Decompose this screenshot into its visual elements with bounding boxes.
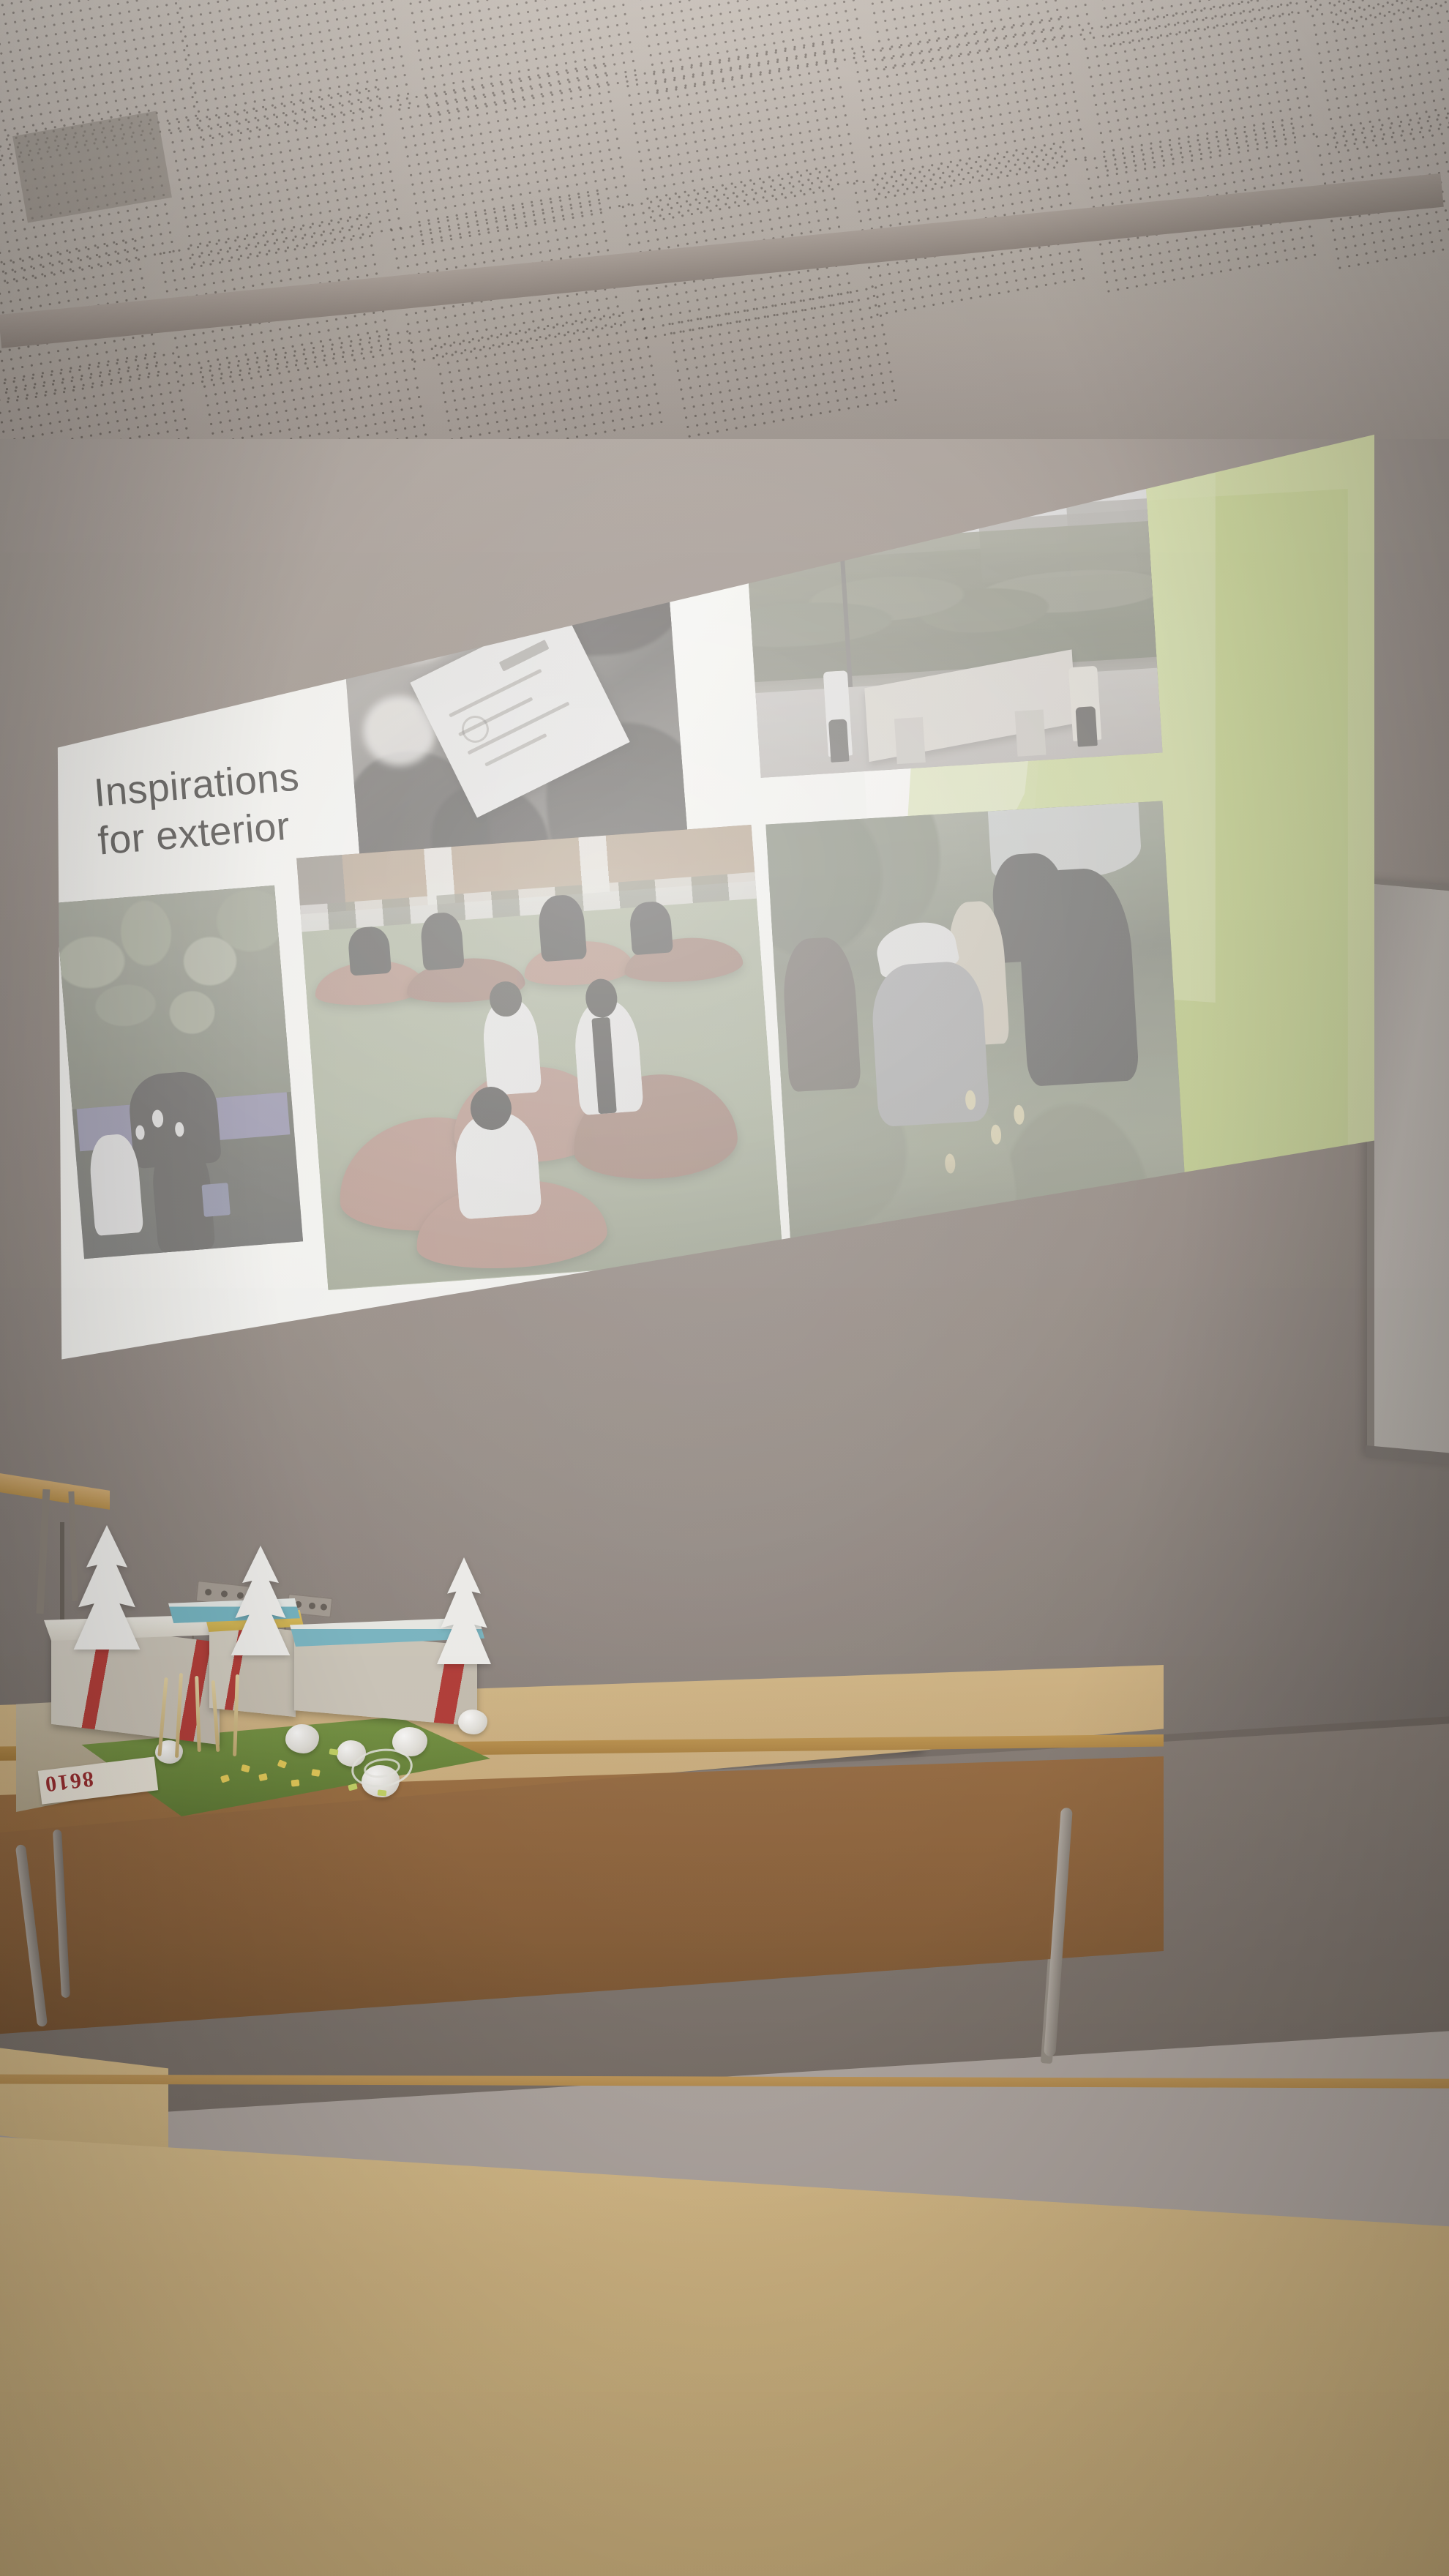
slide-photo-workshop bbox=[337, 543, 689, 881]
photo-student-white-jacket bbox=[572, 998, 644, 1115]
photo-person-left bbox=[823, 670, 853, 757]
whiteboard[interactable] bbox=[1367, 878, 1449, 1464]
slide-photo-gardening bbox=[765, 801, 1188, 1270]
model-package-label-text: 8610 bbox=[42, 1766, 95, 1797]
photo-white-cap bbox=[872, 916, 960, 979]
desk-front[interactable] bbox=[0, 2071, 1449, 2576]
model-bush-6 bbox=[458, 1710, 487, 1734]
classroom-photo-scene: Inspirations for exterior bbox=[0, 0, 1449, 2576]
photo-student-back bbox=[453, 1109, 542, 1219]
slide-photo-planting-bench bbox=[56, 885, 304, 1258]
photo-person-right bbox=[1069, 666, 1102, 741]
photo-student-seated-blue bbox=[481, 997, 542, 1096]
model-bush-1 bbox=[285, 1724, 319, 1753]
slide-title: Inspirations for exterior bbox=[92, 753, 305, 866]
architectural-scale-model[interactable]: 8610 bbox=[22, 1508, 563, 1830]
projected-slide: Inspirations for exterior bbox=[50, 432, 1374, 1383]
slide-photo-urban-park bbox=[744, 470, 1163, 778]
acoustic-ceiling bbox=[0, 0, 1449, 468]
slide-photo-beanbags-turf bbox=[297, 825, 783, 1290]
